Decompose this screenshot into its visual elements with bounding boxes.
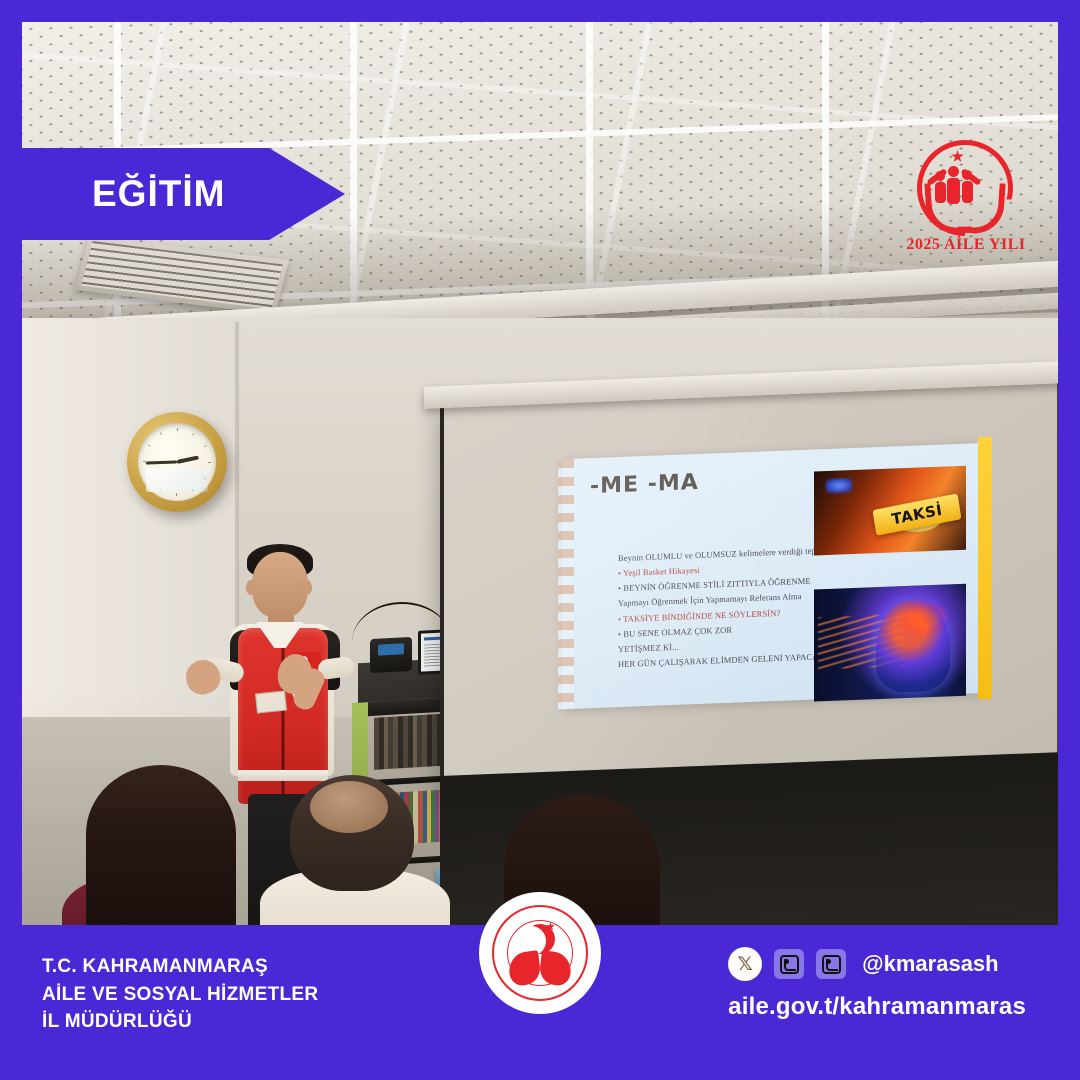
taxi-photo: TAKSİ xyxy=(814,466,966,556)
projection-screen: -ME -MA Beynin OLUMLU ve OLUMSUZ kelimel… xyxy=(440,378,1058,792)
taxi-roof-sign: TAKSİ xyxy=(872,493,961,535)
org-line-2: AİLE VE SOSYAL HİZMETLER xyxy=(42,981,318,1009)
org-line-3: İL MÜDÜRLÜĞÜ xyxy=(42,1008,318,1036)
instagram-icon[interactable] xyxy=(774,949,804,979)
crescent-icon xyxy=(525,924,555,954)
facebook-glyph xyxy=(822,955,841,974)
brain-thermal-photo xyxy=(814,584,966,702)
clock-glare xyxy=(146,468,208,491)
social-icon-row: 𝕏 @kmarasash xyxy=(728,947,1026,981)
instagram-glyph xyxy=(780,955,799,974)
ministry-emblem xyxy=(481,894,599,1012)
audience-hair xyxy=(86,765,236,947)
aile-yili-logo: 2025 AİLE YILI xyxy=(904,140,1028,256)
org-line-1: T.C. KAHRAMANMARAŞ xyxy=(42,953,318,981)
audience-scalp xyxy=(310,781,388,833)
logo-caption: 2025 AİLE YILI xyxy=(904,236,1028,254)
logo-family-body xyxy=(962,181,973,203)
slide-accent-bar xyxy=(978,437,992,700)
slide-edge-decoration xyxy=(558,459,574,710)
cupped-hands-icon xyxy=(509,952,571,986)
facebook-icon[interactable] xyxy=(816,949,846,979)
audience-person xyxy=(254,775,454,947)
presentation-slide: -ME -MA Beynin OLUMLU ve OLUMSUZ kelimel… xyxy=(562,443,980,709)
clock-face xyxy=(138,423,216,501)
organization-name: T.C. KAHRAMANMARAŞ AİLE VE SOSYAL HİZMET… xyxy=(42,953,318,1036)
logo-family-figure xyxy=(948,166,959,177)
audience-person xyxy=(62,765,252,947)
social-handle[interactable]: @kmarasash xyxy=(862,951,998,977)
logo-family-body xyxy=(947,178,960,204)
taxi-light-glow xyxy=(826,478,852,493)
slide-bullet-list: Beynin OLUMLU ve OLUMSUZ kelimelere verd… xyxy=(578,544,806,674)
social-links: 𝕏 @kmarasash aile.gov.t/kahramanmaras xyxy=(728,947,1026,1021)
slide-title: -ME -MA xyxy=(590,470,699,499)
brain-head-silhouette xyxy=(876,598,950,693)
taxi-sign-label: TAKSİ xyxy=(872,493,961,535)
website-url[interactable]: aile.gov.t/kahramanmaras xyxy=(728,993,1026,1021)
presenter-ear xyxy=(246,580,256,595)
social-media-card: -ME -MA Beynin OLUMLU ve OLUMSUZ kelimel… xyxy=(0,0,1080,1080)
wall-clock xyxy=(127,412,227,512)
ribbon-label: EĞİTİM xyxy=(92,173,225,215)
x-twitter-icon[interactable]: 𝕏 xyxy=(728,947,762,981)
name-tag xyxy=(255,690,287,713)
presenter-ear xyxy=(302,580,312,595)
logo-family-body xyxy=(935,182,946,203)
presenter-head xyxy=(252,552,308,618)
